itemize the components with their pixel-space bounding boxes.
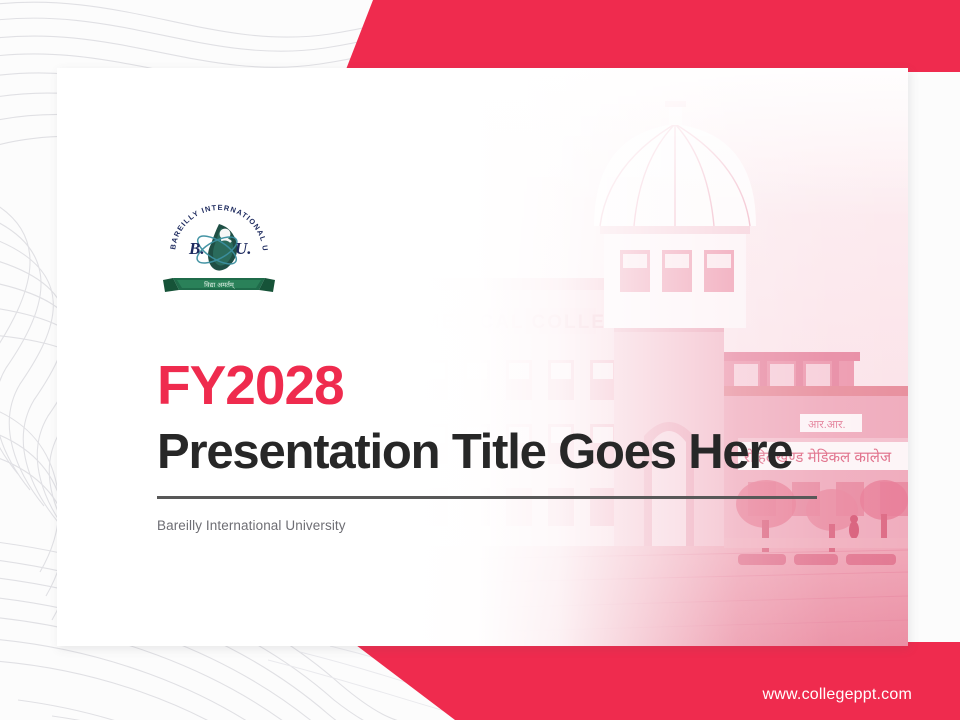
accent-shape-top-right [0,0,960,72]
footer-website-url[interactable]: www.collegeppt.com [763,686,912,704]
svg-text:विद्या अमर्तम्: विद्या अमर्तम् [204,281,235,289]
university-crest-logo: BAREILLY INTERNATIONAL UNIVERSITY B. U. … [157,196,281,298]
campus-building-photo: MEDICAL COLLEGE [408,68,908,646]
svg-text:U.: U. [235,239,252,258]
organization-name: Bareilly International University [157,518,857,533]
photo-top-fade-overlay [408,68,908,218]
presentation-slide: MEDICAL COLLEGE [0,0,960,720]
slide-card: MEDICAL COLLEGE [57,68,908,646]
title-block: FY2028 Presentation Title Goes Here Bare… [157,358,857,533]
title-divider [157,496,817,499]
accent-shape-bottom-right [0,642,960,720]
svg-text:B.: B. [188,239,205,258]
page-title: Presentation Title Goes Here [157,427,857,478]
fiscal-year-label: FY2028 [157,358,857,413]
